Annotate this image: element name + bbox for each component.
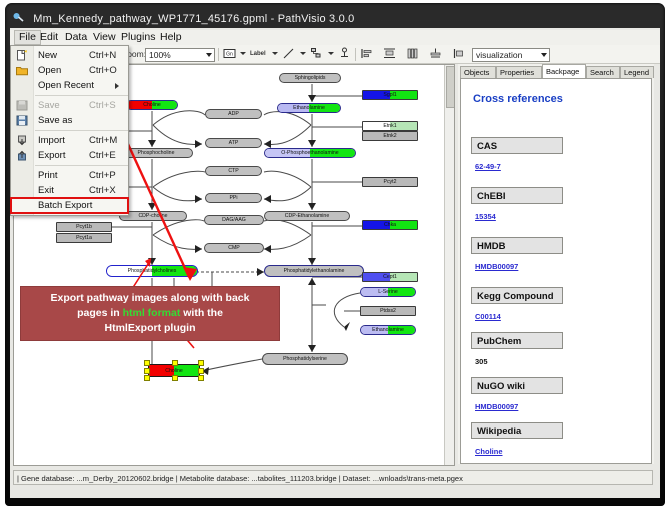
open-folder-icon (16, 65, 28, 76)
menu-item-new[interactable]: New Ctrl+N (11, 48, 128, 63)
db-link-kegg-compound[interactable]: C00114 (475, 312, 501, 321)
label-dropdown-icon[interactable] (272, 52, 278, 55)
db-link-wikipedia[interactable]: Choline (475, 447, 503, 456)
db-link-hmdb[interactable]: HMDB00097 (475, 262, 518, 271)
visualization-value: visualization (476, 49, 522, 61)
cross-references-heading: Cross references (473, 93, 563, 105)
menu-bar[interactable]: File Edit Data View Plugins Help (10, 30, 660, 46)
db-label-cas: CAS (471, 137, 563, 154)
menu-item-exit[interactable]: Exit Ctrl+X (11, 183, 128, 198)
status-bar: | Gene database: ...m_Derby_20120602.bri… (13, 470, 653, 485)
interaction-tool-button[interactable] (310, 47, 323, 61)
menu-item-import[interactable]: Import Ctrl+M (11, 133, 128, 148)
callout-line-3: HtmlExport plugin (27, 321, 273, 336)
menu-item-label: Save (38, 98, 60, 113)
menu-separator-3 (35, 165, 128, 166)
menu-help[interactable]: Help (156, 31, 186, 44)
menu-item-label: Exit (38, 183, 54, 198)
tab-search[interactable]: Search (586, 66, 620, 78)
tab-properties[interactable]: Properties (496, 66, 542, 78)
resize-handle-n[interactable] (172, 360, 178, 366)
menu-item-print[interactable]: Print Ctrl+P (11, 168, 128, 183)
screenshot-root: Mm_Kennedy_pathway_WP1771_45176.gpml - P… (0, 0, 670, 509)
db-label-nugo-wiki: NuGO wiki (471, 377, 563, 394)
save-disk-icon (16, 100, 28, 111)
menu-item-label: Batch Export (38, 198, 92, 213)
align-middle-icon[interactable] (406, 47, 419, 61)
interaction-dropdown-icon[interactable] (328, 52, 334, 55)
new-document-icon (16, 50, 28, 61)
menu-separator-2 (35, 130, 128, 131)
zoom-combobox[interactable]: 100% (145, 48, 215, 62)
window-title: Mm_Kennedy_pathway_WP1771_45176.gpml - P… (33, 13, 354, 25)
menu-item-accel: Ctrl+O (89, 63, 117, 78)
db-value-pubchem: 305 (475, 357, 488, 366)
db-label-kegg-compound: Kegg Compound (471, 287, 563, 304)
menu-item-accel: Ctrl+P (89, 168, 116, 183)
menu-item-accel: Ctrl+E (89, 148, 116, 163)
menu-item-save: Save Ctrl+S (11, 98, 128, 113)
tab-legend[interactable]: Legend (620, 66, 654, 78)
resize-handle-ne[interactable] (198, 360, 204, 366)
menu-item-accel: Ctrl+X (89, 183, 116, 198)
zoom-value: 100% (149, 49, 171, 61)
toolbar-separator-3 (355, 48, 356, 61)
db-label-wikipedia: Wikipedia (471, 422, 563, 439)
align-left-icon[interactable] (360, 47, 373, 61)
anchor-tool-button[interactable] (338, 47, 351, 61)
menu-item-label: New (38, 48, 57, 63)
pathvisio-app-icon (12, 11, 25, 24)
align-center-icon[interactable] (383, 47, 396, 61)
tab-objects[interactable]: Objects (460, 66, 496, 78)
line-tool-button[interactable] (282, 47, 295, 61)
import-icon (16, 135, 28, 146)
datanode-dropdown-icon[interactable] (240, 52, 246, 55)
title-bar: Mm_Kennedy_pathway_WP1771_45176.gpml - P… (12, 10, 652, 28)
backpage-content: Cross references CAS 62-49-7 ChEBI 15354… (460, 78, 652, 464)
resize-handle-se[interactable] (198, 375, 204, 381)
toolbar-separator-2 (218, 48, 219, 61)
resize-handle-e[interactable] (198, 368, 204, 374)
resize-handle-sw[interactable] (144, 375, 150, 381)
db-link-cas[interactable]: 62-49-7 (475, 162, 501, 171)
callout-highlight: html format (123, 307, 181, 319)
resize-handle-nw[interactable] (144, 360, 150, 366)
menu-separator (35, 95, 128, 96)
selection-handles[interactable] (144, 360, 204, 381)
menu-item-open-recent[interactable]: Open Recent (11, 78, 128, 93)
side-panel[interactable]: Objects Properties Backpage Search Legen… (458, 64, 654, 464)
menu-item-label: Import (38, 133, 65, 148)
menu-item-accel: Ctrl+N (89, 48, 116, 63)
save-as-icon (16, 115, 28, 126)
svg-text:Gn: Gn (226, 52, 233, 58)
menu-item-batch-export[interactable]: Batch Export (11, 198, 128, 213)
common-icon[interactable] (452, 47, 465, 61)
menu-item-label: Save as (38, 113, 72, 128)
menu-item-label: Open Recent (38, 78, 94, 93)
callout-line-2: pages in html format with the (27, 306, 273, 321)
db-link-chebi[interactable]: 15354 (475, 212, 496, 221)
line-dropdown-icon[interactable] (300, 52, 306, 55)
callout-line-2-a: pages in (77, 307, 123, 319)
menu-view[interactable]: View (89, 31, 120, 44)
tab-backpage[interactable]: Backpage (542, 64, 586, 78)
export-icon (16, 150, 28, 161)
resize-handle-s[interactable] (172, 375, 178, 381)
chevron-right-icon (115, 83, 119, 89)
db-label-chebi: ChEBI (471, 187, 563, 204)
resize-handle-w[interactable] (144, 368, 150, 374)
callout-line-2-b: with the (180, 307, 223, 319)
menu-item-accel: Ctrl+M (89, 133, 117, 148)
menu-edit[interactable]: Edit (36, 31, 62, 44)
menu-item-label: Open (38, 63, 61, 78)
stack-icon[interactable] (429, 47, 442, 61)
menu-item-label: Print (38, 168, 58, 183)
annotation-callout: Export pathway images along with back pa… (20, 286, 280, 341)
db-link-nugo-wiki[interactable]: HMDB00097 (475, 402, 518, 411)
file-dropdown-menu[interactable]: New Ctrl+N Open Ctrl+O Open Recent Save … (10, 45, 129, 216)
db-label-pubchem: PubChem (471, 332, 563, 349)
menu-item-open[interactable]: Open Ctrl+O (11, 63, 128, 78)
chevron-down-icon (206, 53, 212, 57)
datanode-tool-button[interactable]: Gn (223, 47, 236, 61)
db-label-hmdb: HMDB (471, 237, 563, 254)
label-tool-button[interactable]: Label (250, 48, 266, 60)
menu-data[interactable]: Data (61, 31, 91, 44)
menu-item-save-as[interactable]: Save as (11, 113, 128, 128)
menu-item-label: Export (38, 148, 65, 163)
menu-item-accel: Ctrl+S (89, 98, 116, 113)
callout-line-1: Export pathway images along with back (27, 291, 273, 306)
visualization-combobox[interactable]: visualization (472, 48, 550, 62)
chevron-down-icon-2 (541, 53, 547, 57)
menu-plugins[interactable]: Plugins (117, 31, 159, 44)
menu-item-export[interactable]: Export Ctrl+E (11, 148, 128, 163)
side-panel-tabs[interactable]: Objects Properties Backpage Search Legen… (458, 64, 654, 78)
